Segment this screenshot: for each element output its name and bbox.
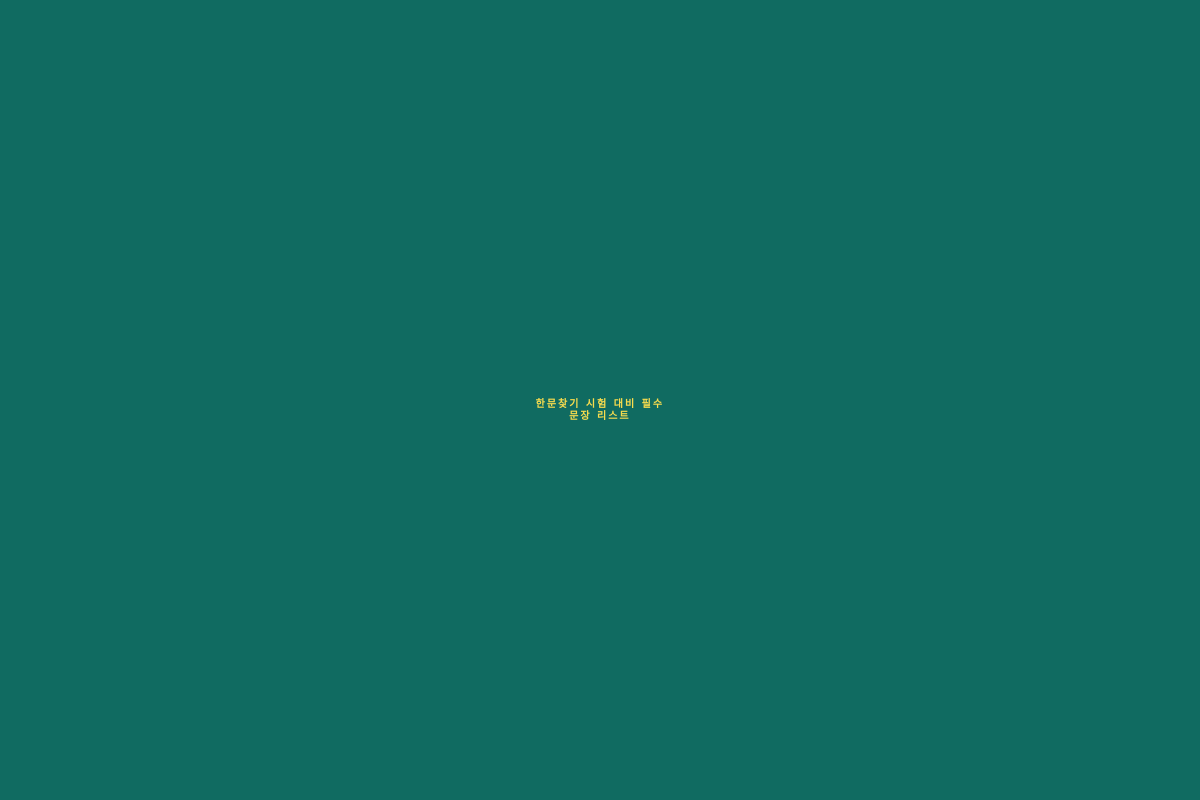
banner-title-line-1: 한문찾기 시험 대비 필수	[40, 399, 1160, 411]
banner-background: 한문찾기 시험 대비 필수 문장 리스트	[0, 0, 1200, 800]
banner-title-line-2: 문장 리스트	[40, 411, 1160, 423]
banner-title-block: 한문찾기 시험 대비 필수 문장 리스트	[40, 399, 1160, 424]
